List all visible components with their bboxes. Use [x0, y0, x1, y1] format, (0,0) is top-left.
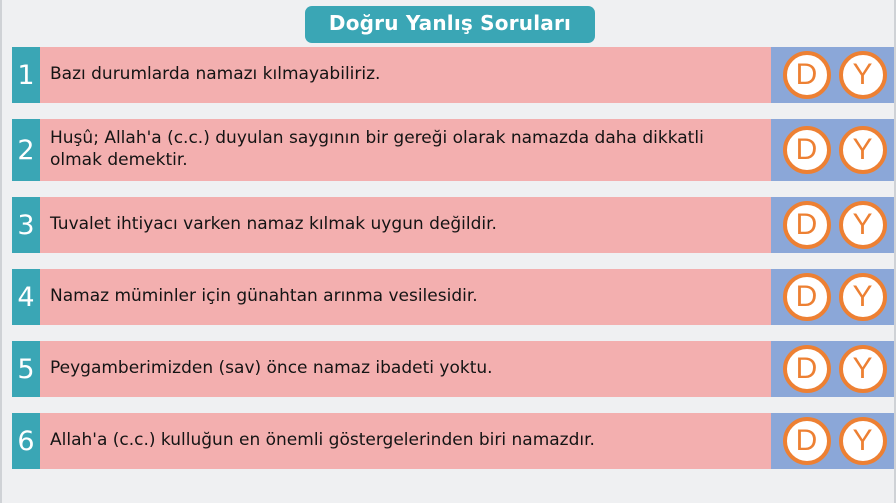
option-true-button[interactable]: D [783, 345, 831, 393]
question-row: 3Tuvalet ihtiyacı varken namaz kılmak uy… [2, 197, 896, 253]
question-text: Huşû; Allah'a (c.c.) duyulan saygının bi… [50, 128, 761, 172]
option-false-button[interactable]: Y [839, 201, 887, 249]
question-number: 3 [12, 197, 40, 253]
question-text: Peygamberimizden (sav) önce namaz ibadet… [50, 358, 493, 380]
question-row: 5Peygamberimizden (sav) önce namaz ibade… [2, 341, 896, 397]
question-number: 6 [12, 413, 40, 469]
answer-options: DY [771, 269, 896, 325]
answer-options: DY [771, 47, 896, 103]
page-title: Doğru Yanlış Soruları [305, 6, 595, 43]
option-false-button[interactable]: Y [839, 51, 887, 99]
option-false-button[interactable]: Y [839, 345, 887, 393]
option-false-button[interactable]: Y [839, 273, 887, 321]
question-text-container: Huşû; Allah'a (c.c.) duyulan saygının bi… [40, 119, 771, 181]
option-false-button[interactable]: Y [839, 126, 887, 174]
option-true-button[interactable]: D [783, 417, 831, 465]
question-text: Bazı durumlarda namazı kılmayabiliriz. [50, 64, 380, 86]
question-row: 1Bazı durumlarda namazı kılmayabiliriz.D… [2, 47, 896, 103]
question-row: 6Allah'a (c.c.) kulluğun en önemli göste… [2, 413, 896, 469]
worksheet-page: Doğru Yanlış Soruları 1Bazı durumlarda n… [0, 0, 896, 503]
question-number: 5 [12, 341, 40, 397]
option-true-button[interactable]: D [783, 273, 831, 321]
answer-options: DY [771, 413, 896, 469]
question-number: 1 [12, 47, 40, 103]
question-text: Tuvalet ihtiyacı varken namaz kılmak uyg… [50, 214, 497, 236]
question-text-container: Tuvalet ihtiyacı varken namaz kılmak uyg… [40, 197, 771, 253]
question-text: Allah'a (c.c.) kulluğun en önemli göster… [50, 430, 595, 452]
option-false-button[interactable]: Y [839, 417, 887, 465]
answer-options: DY [771, 341, 896, 397]
option-true-button[interactable]: D [783, 51, 831, 99]
question-text-container: Allah'a (c.c.) kulluğun en önemli göster… [40, 413, 771, 469]
answer-options: DY [771, 197, 896, 253]
question-text: Namaz müminler için günahtan arınma vesi… [50, 286, 478, 308]
question-text-container: Namaz müminler için günahtan arınma vesi… [40, 269, 771, 325]
answer-options: DY [771, 119, 896, 181]
question-row: 4Namaz müminler için günahtan arınma ves… [2, 269, 896, 325]
option-true-button[interactable]: D [783, 201, 831, 249]
question-row: 2Huşû; Allah'a (c.c.) duyulan saygının b… [2, 119, 896, 181]
question-text-container: Peygamberimizden (sav) önce namaz ibadet… [40, 341, 771, 397]
option-true-button[interactable]: D [783, 126, 831, 174]
question-text-container: Bazı durumlarda namazı kılmayabiliriz. [40, 47, 771, 103]
question-number: 4 [12, 269, 40, 325]
question-number: 2 [12, 119, 40, 181]
question-list: 1Bazı durumlarda namazı kılmayabiliriz.D… [2, 47, 896, 485]
title-container: Doğru Yanlış Soruları [2, 6, 896, 43]
